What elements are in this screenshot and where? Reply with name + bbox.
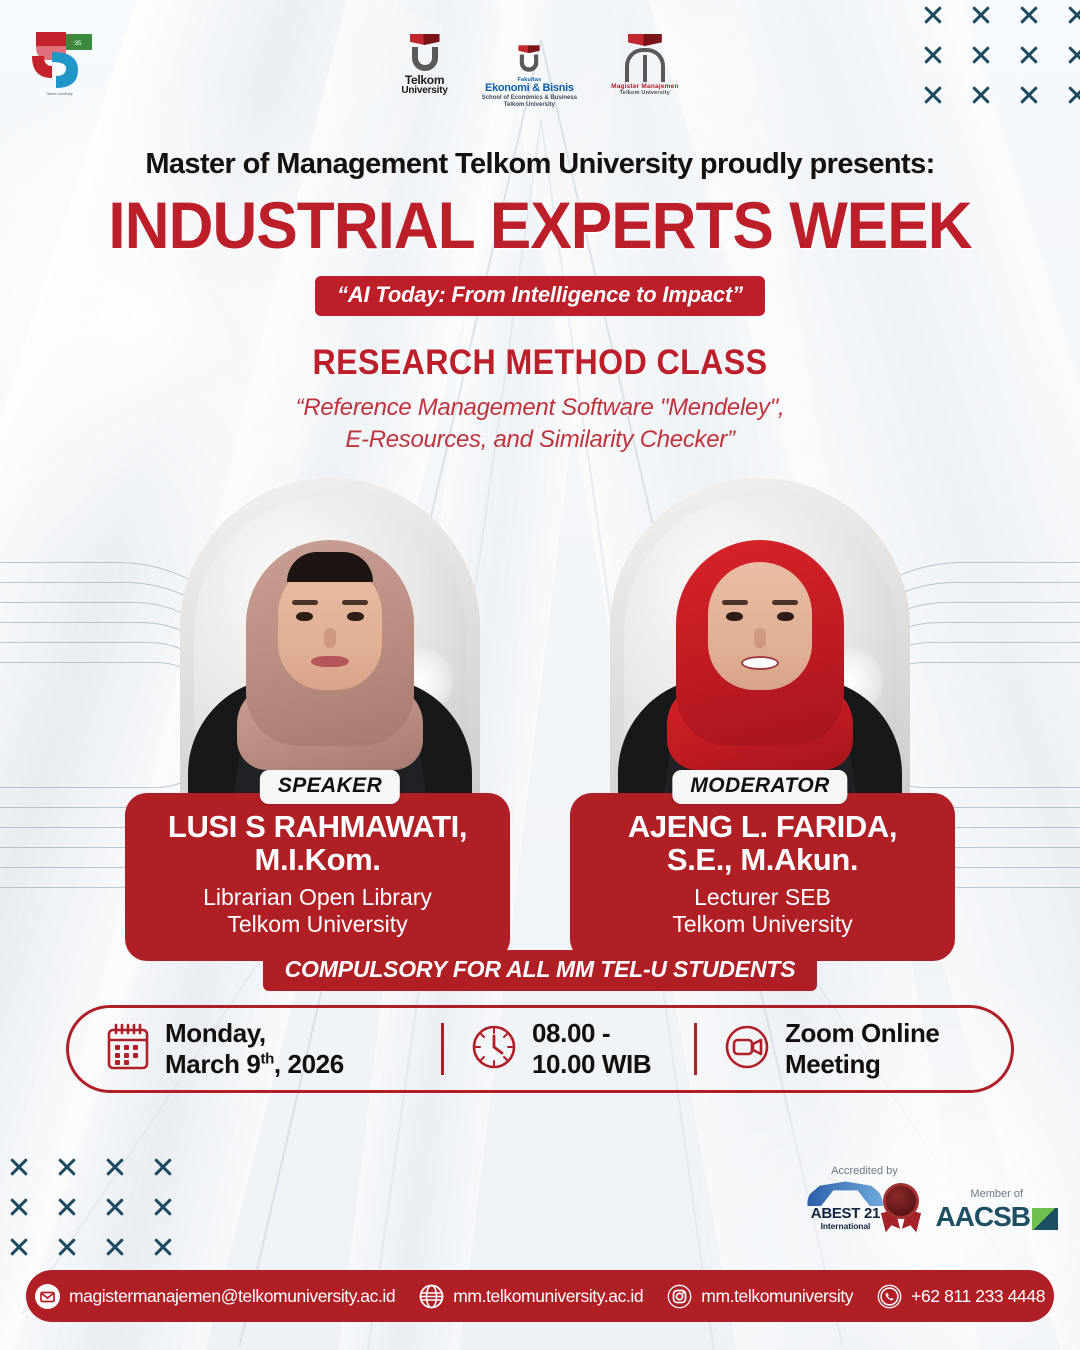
abest21-name: ABEST 21	[807, 1206, 883, 1221]
globe-icon	[419, 1284, 444, 1309]
moderator-name-card: AJENG L. FARIDA, S.E., M.Akun. Lecturer …	[570, 793, 955, 961]
moderator-name-line1: AJENG L. FARIDA,	[584, 811, 941, 844]
x-mark-icon	[104, 1156, 126, 1178]
abest21-logo: Accredited by ABEST 21 International	[807, 1165, 921, 1231]
contact-email-text: magistermanajemen@telkomuniversity.ac.id	[69, 1286, 395, 1307]
detail-date-line2-post: , 2026	[274, 1049, 344, 1079]
abest21-sub: International	[807, 1221, 883, 1231]
event-title: INDUSTRIAL EXPERTS WEEK	[32, 192, 1047, 259]
moderator-photo	[610, 478, 910, 810]
aacsb-flag-icon	[1032, 1208, 1058, 1230]
detail-date-line1: Monday,	[165, 1018, 266, 1048]
mm-logo-line2: Telkom University	[611, 90, 679, 96]
x-mark-icon	[8, 1196, 30, 1218]
footer-contact-bar: magistermanajemen@telkomuniversity.ac.id…	[26, 1270, 1054, 1322]
contact-instagram[interactable]: mm.telkomuniversity	[667, 1284, 853, 1309]
x-mark-icon	[8, 1236, 30, 1258]
x-mark-icon	[152, 1156, 174, 1178]
presents-line: Master of Management Telkom University p…	[0, 148, 1080, 181]
x-mark-icon	[1066, 4, 1080, 26]
class-subtitle-line2: E-Resources, and Similarity Checker”	[0, 424, 1080, 456]
speaker-portrait-block: SPEAKER	[180, 478, 480, 810]
detail-time-line2: 10.00 WIB	[532, 1049, 651, 1079]
telkom-u-mark-icon	[406, 34, 444, 71]
feb-u-mark-icon	[516, 45, 543, 72]
detail-place-text: Zoom Online Meeting	[785, 1018, 939, 1079]
speaker-role-badge: SPEAKER	[260, 770, 400, 804]
moderator-portrait-block: MODERATOR	[610, 478, 910, 810]
x-mark-icon	[104, 1196, 126, 1218]
calendar-icon	[105, 1022, 151, 1077]
x-mark-icon	[8, 1156, 30, 1178]
feb-main-label: Ekonomi & Bisnis	[482, 83, 577, 95]
x-mark-icon	[1018, 4, 1040, 26]
contact-website[interactable]: mm.telkomuniversity.ac.id	[419, 1284, 643, 1309]
contact-website-text: mm.telkomuniversity.ac.id	[453, 1286, 643, 1307]
whatsapp-icon	[877, 1284, 902, 1309]
accreditation-seal-icon	[881, 1183, 921, 1231]
class-subtitle-line1: “Reference Management Software "Mendeley…	[0, 392, 1080, 424]
speaker-photo	[180, 478, 480, 810]
class-subtitle: “Reference Management Software "Mendeley…	[0, 392, 1080, 455]
contact-whatsapp[interactable]: +62 811 233 4448	[877, 1284, 1045, 1309]
x-mark-icon	[970, 4, 992, 26]
event-tagline: “AI Today: From Intelligence to Impact”	[315, 276, 765, 316]
x-mark-icon	[56, 1156, 78, 1178]
abest21-arc-icon	[807, 1180, 883, 1206]
speaker-name-line2: M.I.Kom.	[139, 844, 496, 877]
event-details-bar: Monday, March 9th, 2026 08.00 - 10.00 WI…	[66, 1005, 1014, 1093]
aacsb-label: Member of	[935, 1188, 1058, 1200]
x-mark-icon	[152, 1196, 174, 1218]
accreditation-logos: Accredited by ABEST 21 International Mem…	[807, 1165, 1058, 1231]
abest21-label: Accredited by	[807, 1165, 921, 1177]
aacsb-logo: Member of AACSB	[935, 1188, 1058, 1231]
contact-whatsapp-text: +62 811 233 4448	[911, 1286, 1045, 1307]
detail-date: Monday, March 9th, 2026	[69, 1018, 441, 1079]
x-mark-icon	[922, 4, 944, 26]
aacsb-name-wrap: AACSB	[935, 1203, 1058, 1231]
tagline-container: “AI Today: From Intelligence to Impact”	[0, 276, 1080, 316]
detail-time-text: 08.00 - 10.00 WIB	[532, 1018, 651, 1079]
poster-canvas: 35 Telkom University Telkom University F…	[0, 0, 1080, 1350]
x-mark-icon	[56, 1196, 78, 1218]
speaker-name-card: LUSI S RAHMAWATI, M.I.Kom. Librarian Ope…	[125, 793, 510, 961]
speaker-affiliation-line2: Telkom University	[139, 911, 496, 939]
aacsb-name: AACSB	[935, 1201, 1030, 1232]
speaker-affiliation-line1: Librarian Open Library	[139, 884, 496, 912]
instagram-icon	[667, 1284, 692, 1309]
moderator-role-badge: MODERATOR	[672, 770, 847, 804]
logo-fakultas-ekonomi-bisnis: Fakultas Ekonomi & Bisnis School of Econ…	[482, 40, 577, 110]
institution-logo-row: Telkom University Fakultas Ekonomi & Bis…	[0, 34, 1080, 110]
logo-telkom-university: Telkom University	[401, 34, 447, 97]
telkom-logo-line2: University	[401, 86, 447, 97]
feb-sub-line1: School of Economics & Business	[482, 95, 577, 103]
x-mark-icon	[56, 1236, 78, 1258]
moderator-affiliation-line1: Lecturer SEB	[584, 884, 941, 912]
detail-place: Zoom Online Meeting	[697, 1018, 1011, 1079]
moderator-affiliation-line2: Telkom University	[584, 911, 941, 939]
contact-email[interactable]: magistermanajemen@telkomuniversity.ac.id	[35, 1284, 395, 1309]
speaker-name-line1: LUSI S RAHMAWATI,	[139, 811, 496, 844]
clock-icon	[470, 1023, 518, 1076]
mm-m-mark-icon	[625, 48, 665, 82]
detail-time: 08.00 - 10.00 WIB	[444, 1018, 694, 1079]
detail-date-line2-pre: March 9	[165, 1049, 260, 1079]
x-mark-icon	[152, 1236, 174, 1258]
moderator-name-line2: S.E., M.Akun.	[584, 844, 941, 877]
decorative-x-pattern-bottom-left	[8, 1156, 174, 1258]
contact-instagram-text: mm.telkomuniversity	[701, 1286, 853, 1307]
detail-place-line2: Meeting	[785, 1049, 880, 1079]
detail-place-line1: Zoom Online	[785, 1018, 939, 1048]
x-mark-icon	[104, 1236, 126, 1258]
detail-date-text: Monday, March 9th, 2026	[165, 1018, 344, 1079]
mm-logo-line1: Magister Manajemen	[611, 83, 679, 90]
detail-time-line1: 08.00 -	[532, 1018, 610, 1048]
email-icon	[35, 1284, 60, 1309]
class-title: RESEARCH METHOD CLASS	[43, 343, 1037, 383]
detail-date-ordinal: th	[260, 1050, 273, 1067]
video-camera-icon	[723, 1023, 771, 1076]
feb-sub-line2: Telkom University	[482, 102, 577, 110]
logo-magister-manajemen: Magister Manajemen Telkom University	[611, 34, 679, 96]
